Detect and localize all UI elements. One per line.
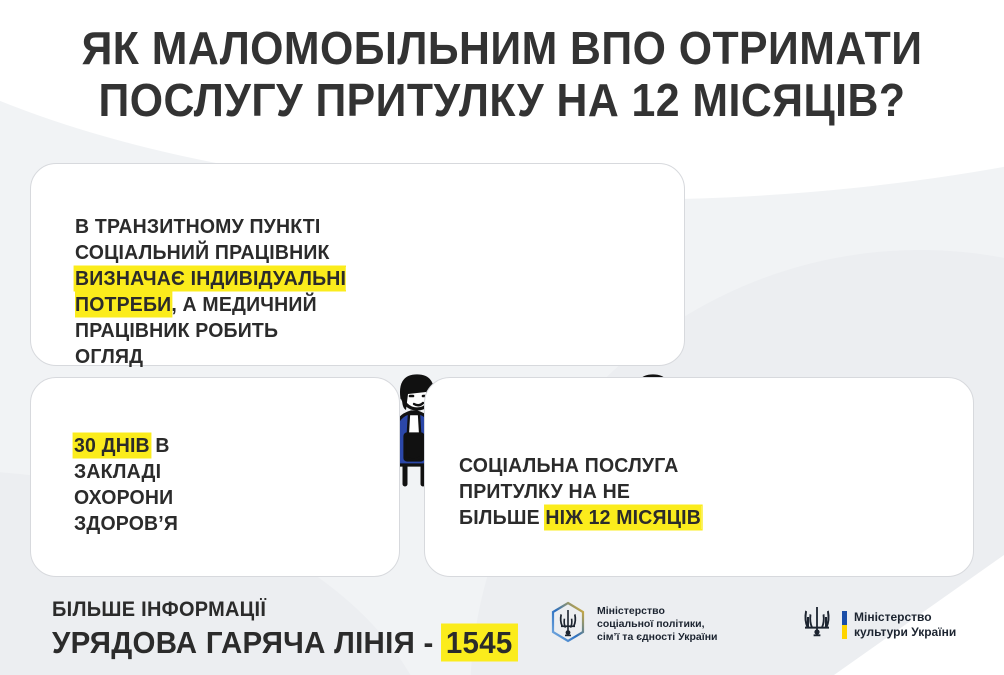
hotline-number: 1545	[442, 625, 516, 660]
hotline-line: УРЯДОВА ГАРЯЧА ЛІНІЯ - 1545	[52, 625, 516, 661]
logo-ministry-of-social-policy: Міністерство соціальної політики, сім’ї …	[548, 601, 718, 648]
hotline-label: УРЯДОВА ГАРЯЧА ЛІНІЯ -	[52, 625, 442, 660]
logo-ministry-of-culture-label: Міністерство культури України	[854, 610, 956, 640]
text-segment-highlighted: 30 ДНІВ	[74, 434, 150, 457]
logo-ministry-of-culture: Міністерство культури України	[800, 605, 956, 644]
flag-divider-bar	[842, 611, 847, 639]
trident-icon	[800, 605, 834, 644]
card-shelter-service-text: СОЦІАЛЬНА ПОСЛУГА ПРИТУЛКУ НА НЕ БІЛЬШЕ …	[459, 453, 716, 531]
page-title: ЯК МАЛОМОБІЛЬНИМ ВПО ОТРИМАТИ ПОСЛУГУ ПР…	[35, 22, 969, 126]
footer-contact-block: БІЛЬШЕ ІНФОРМАЦІЇ УРЯДОВА ГАРЯЧА ЛІНІЯ -…	[52, 598, 541, 661]
trident-in-hexagon-icon	[548, 601, 588, 648]
card-health-facility-text: 30 ДНІВ В ЗАКЛАДІ ОХОРОНИ ЗДОРОВ’Я	[74, 433, 217, 537]
text-segment: СОЦІАЛЬНИЙ ПРАЦІВНИК	[75, 241, 330, 264]
card-shelter-service: СОЦІАЛЬНА ПОСЛУГА ПРИТУЛКУ НА НЕ БІЛЬШЕ …	[424, 377, 974, 577]
text-segment: В ТРАНЗИТНОМУ ПУНКТІ	[75, 215, 321, 238]
logo-ministry-of-social-policy-label: Міністерство соціальної політики, сім’ї …	[597, 605, 718, 644]
card-health-facility: 30 ДНІВ В ЗАКЛАДІ ОХОРОНИ ЗДОРОВ’Я	[30, 377, 400, 577]
text-segment-highlighted: НІЖ 12 МІСЯЦІВ	[545, 506, 701, 529]
card-transit-point-text: В ТРАНЗИТНОМУ ПУНКТІ СОЦІАЛЬНИЙ ПРАЦІВНИ…	[75, 214, 351, 370]
card-transit-point: В ТРАНЗИТНОМУ ПУНКТІ СОЦІАЛЬНИЙ ПРАЦІВНИ…	[30, 163, 685, 366]
infographic-poster: ЯК МАЛОМОБІЛЬНИМ ВПО ОТРИМАТИ ПОСЛУГУ ПР…	[0, 0, 1004, 675]
more-info-label: БІЛЬШЕ ІНФОРМАЦІЇ	[52, 598, 516, 622]
